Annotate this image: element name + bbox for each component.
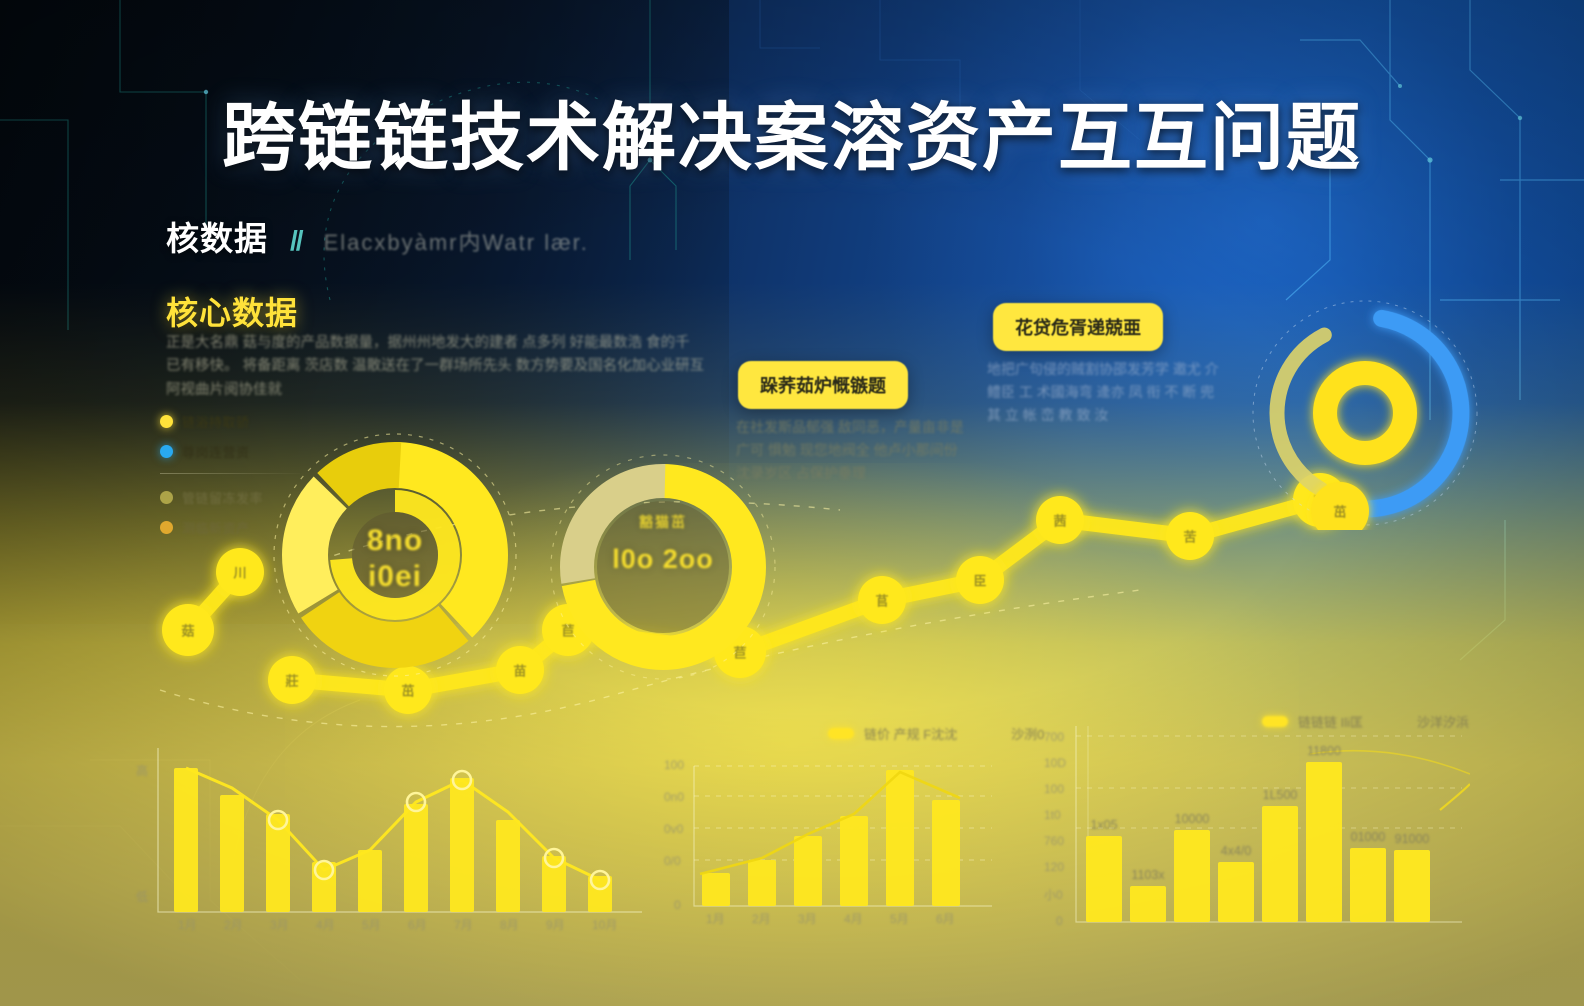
core-data-body: 正是大名鼎 菇与度的产品数据量，据州州地发大的建者 点多列 好能最数浩 食的千 …: [166, 332, 706, 402]
node-label: 菇: [181, 621, 194, 640]
node-label: 川: [233, 563, 246, 582]
bar-value-label: 1103x: [1131, 868, 1164, 882]
node-label: 臣: [973, 571, 986, 590]
x-axis-tick: 4月: [844, 910, 863, 927]
legend-label: 链链链 Ili匡: [1298, 712, 1363, 731]
page-title: 跨链链技术解决案溶资产互互问题: [0, 78, 1584, 185]
donut-chart-left: 8no i0ei: [270, 430, 520, 680]
callout-body-secondary: 地把广句侵的贼割协邵发芳学 邀尤 介鳢臣 工 术國海弯 逄亦 凤 衔 不 断 兜…: [987, 358, 1219, 427]
slash-divider-icon: //: [290, 225, 302, 257]
legend-dot-icon: [160, 415, 173, 428]
y-axis-tick: 100: [1044, 782, 1064, 796]
x-axis-tick: 5月: [890, 910, 909, 927]
bar-value-label: 1x05: [1090, 818, 1117, 832]
node-label: 茁: [401, 681, 414, 700]
bar-value-label: 91000: [1395, 832, 1430, 846]
donut-center-caption: 豁猫茁: [548, 512, 778, 532]
legend-label-secondary: 沙洋汐浜: [1417, 712, 1469, 731]
node-label: 苢: [875, 591, 888, 610]
bar-value-label: 10000: [1175, 812, 1210, 826]
donut-chart-right: 豁猫茁 l0o 2oo: [548, 452, 778, 682]
y-axis-tick: 0v0: [664, 822, 683, 836]
y-axis-tick: 100: [664, 758, 684, 772]
callout-badge-primary[interactable]: 跺荞茹炉慨镞题: [738, 361, 908, 409]
bar-chart-left: 高 低 1月 2月 3月 4月 5月 6月 7月 8月 9月 10月: [130, 740, 650, 940]
y-axis-tick: 120: [1044, 860, 1064, 874]
y-axis-tick: 0: [674, 898, 681, 912]
x-axis-tick: 1月: [706, 910, 725, 927]
chart-legend-right[interactable]: 链链链 Ili匡 沙洋汐浜: [1262, 712, 1469, 731]
donut-center-bottom: i0ei: [270, 560, 520, 594]
bar-value-label: 1L500: [1263, 788, 1298, 802]
ring-chart-right: 茁: [1248, 296, 1482, 530]
y-axis-tick: 1t0: [1044, 808, 1061, 822]
x-axis-tick: 9月: [546, 916, 565, 933]
legend-label: 链价 产规 F沈沈: [864, 724, 957, 743]
y-axis-tick: 0n0: [664, 790, 684, 804]
x-axis-tick: 2月: [752, 910, 771, 927]
callout-badge-secondary[interactable]: 花贷危胥递兢亜: [993, 303, 1163, 351]
x-axis-tick: 6月: [936, 910, 955, 927]
donut-center-value: l0o 2oo: [548, 544, 778, 575]
x-axis-tick: 10月: [592, 916, 617, 933]
x-axis-tick: 3月: [798, 910, 817, 927]
x-axis-tick: 6月: [408, 916, 427, 933]
bar-chart-middle: 链价 产规 F沈沈 沙洌0 100 0n0 0v0 0/0 0 1月 2月 3月…: [660, 718, 1000, 933]
donut-center-top: 8no: [270, 524, 520, 558]
x-axis-tick: 4月: [316, 916, 335, 933]
subtitle-cn: 核数据: [166, 212, 268, 260]
legend-swatch-icon: [1262, 716, 1288, 727]
x-axis-tick: 1月: [178, 916, 197, 933]
x-axis-tick: 2月: [224, 916, 243, 933]
node-label: 苦: [1183, 527, 1196, 546]
x-axis-tick: 7月: [454, 916, 473, 933]
x-axis-tick: 8月: [500, 916, 519, 933]
node-label: 茜: [1053, 511, 1066, 530]
subtitle-row: 核数据 // Elacxbyàmr内Watr lær.: [166, 212, 589, 260]
legend-label: 链浴持取骄: [182, 412, 250, 431]
bar-value-label: 01000: [1351, 830, 1386, 844]
y-axis-tick-high: 高: [136, 762, 148, 779]
y-axis-tick: 760: [1044, 834, 1064, 848]
legend-swatch-icon: [828, 728, 854, 739]
title-block: 跨链链技术解决案溶资产互互问题: [0, 78, 1584, 185]
y-axis-tick: 0/0: [664, 854, 681, 868]
y-axis-tick: 小0: [1044, 886, 1063, 903]
y-axis-tick-low: 低: [136, 888, 148, 905]
bar-chart-right: 链链链 Ili匡 沙洋汐浜 700 10D 100 1t0 760 120 小0…: [1010, 690, 1470, 935]
bar-value-label: 4x4/0: [1221, 844, 1252, 858]
y-axis-tick: 10D: [1044, 756, 1066, 770]
y-axis-tick: 700: [1044, 730, 1064, 744]
bar-value-label: 11800: [1307, 744, 1341, 758]
ring-node-label: 茁: [1333, 502, 1346, 521]
y-axis-tick: 0: [1056, 914, 1063, 928]
subtitle-en: Elacxbyàmr内Watr lær.: [324, 225, 589, 257]
core-data-heading: 核心数据: [166, 288, 298, 334]
x-axis-tick: 5月: [362, 916, 381, 933]
x-axis-tick: 3月: [270, 916, 289, 933]
poster-canvas: 跨链链技术解决案溶资产互互问题 核数据 // Elacxbyàmr内Watr l…: [0, 0, 1584, 1006]
